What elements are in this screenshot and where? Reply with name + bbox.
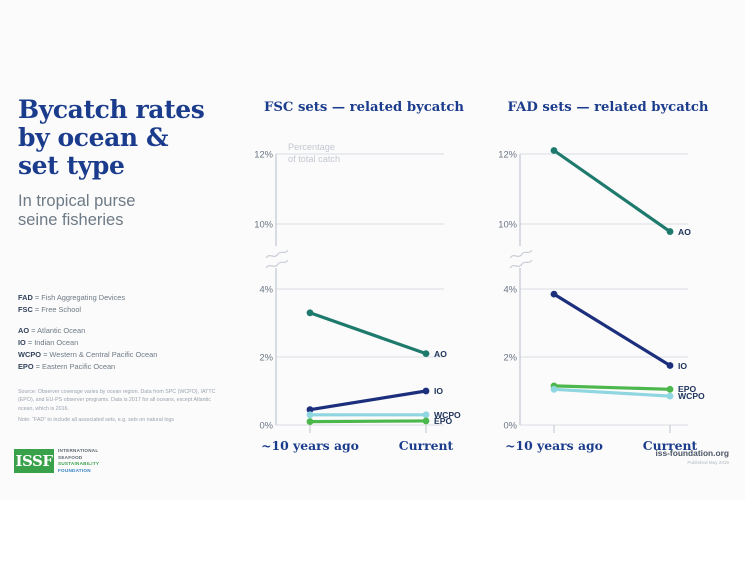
title-line-1: Bycatch rates xyxy=(18,96,240,124)
note-text: Note: “FAD” to include all associated se… xyxy=(18,416,218,424)
source-text: Source: Observer coverage varies by ocea… xyxy=(18,388,218,413)
data-point-epo[interactable] xyxy=(307,418,314,425)
data-point-io[interactable] xyxy=(551,291,558,298)
title-line-3: set type xyxy=(18,152,240,180)
plot-area-fsc: Percentageof total catch 0%2%4%10%12% AO… xyxy=(248,121,480,433)
definition-key: AO xyxy=(18,326,29,335)
chart-fad: FAD sets — related bycatch 0%2%4%10%12% … xyxy=(492,100,724,448)
logo-word-1: INTERNATIONAL xyxy=(58,448,99,455)
definition-key: FSC xyxy=(18,305,33,314)
axis-break-icon xyxy=(266,250,288,258)
data-point-wcpo[interactable] xyxy=(667,393,674,400)
series-label-ao: AO xyxy=(434,349,447,359)
subtitle-line-2: seine fisheries xyxy=(18,211,240,230)
definition-row: WCPO = Western & Central Pacific Ocean xyxy=(18,349,233,361)
title-block: Bycatch rates by ocean & set type In tro… xyxy=(18,96,240,231)
source-notes: Source: Observer coverage varies by ocea… xyxy=(18,388,218,424)
subtitle-line-1: In tropical purse xyxy=(18,192,240,211)
plot-area-fad: 0%2%4%10%12% AOIOEPOWCPO xyxy=(492,121,724,433)
definition-value: = Fish Aggregating Devices xyxy=(35,293,125,302)
series-line-io[interactable] xyxy=(554,294,670,365)
definition-value: = Eastern Pacific Ocean xyxy=(36,362,116,371)
definition-value: = Atlantic Ocean xyxy=(31,326,85,335)
definition-key: WCPO xyxy=(18,350,41,359)
title-line-2: by ocean & xyxy=(18,124,240,152)
x-axis-label: Current xyxy=(399,438,454,453)
definition-row: IO = Indian Ocean xyxy=(18,337,233,349)
data-point-wcpo[interactable] xyxy=(551,386,558,393)
data-point-ao[interactable] xyxy=(667,228,674,235)
chart-fsc: FSC sets — related bycatch Percentageof … xyxy=(248,100,480,448)
definition-group-set-types: FAD = Fish Aggregating Devices FSC = Fre… xyxy=(18,292,233,316)
legend-definitions: FAD = Fish Aggregating Devices FSC = Fre… xyxy=(18,292,233,382)
definition-value: = Western & Central Pacific Ocean xyxy=(43,350,157,359)
series-label-ao: AO xyxy=(678,227,691,237)
issf-logo-mark: ISSF xyxy=(14,449,54,473)
logo-word-3: SUSTAINABILITY xyxy=(58,461,99,468)
definition-row: FSC = Free School xyxy=(18,304,233,316)
data-point-epo[interactable] xyxy=(423,418,430,425)
published-date: Published May 2019 xyxy=(655,460,729,465)
definition-row: AO = Atlantic Ocean xyxy=(18,325,233,337)
x-axis-label: ~10 years ago xyxy=(261,438,359,453)
axis-break-icon xyxy=(266,260,288,268)
site-info: iss-foundation.org Published May 2019 xyxy=(655,448,729,465)
series-label-wcpo: WCPO xyxy=(678,391,705,401)
chart-title-fsc: FSC sets — related bycatch xyxy=(248,100,480,115)
definition-value: = Free School xyxy=(35,305,81,314)
footer: ISSF INTERNATIONAL SEAFOOD SUSTAINABILIT… xyxy=(0,500,745,576)
x-axis-labels-fsc: ~10 years agoCurrent xyxy=(248,438,480,458)
series-label-io: IO xyxy=(434,386,443,396)
definition-key: IO xyxy=(18,338,26,347)
issf-logo: ISSF INTERNATIONAL SEAFOOD SUSTAINABILIT… xyxy=(14,448,99,474)
x-axis-label: ~10 years ago xyxy=(505,438,603,453)
definition-key: FAD xyxy=(18,293,33,302)
site-url[interactable]: iss-foundation.org xyxy=(655,448,729,458)
axis-break-icon xyxy=(510,260,532,268)
issf-logo-wordmark: INTERNATIONAL SEAFOOD SUSTAINABILITY FOU… xyxy=(58,448,99,474)
series-line-ao[interactable] xyxy=(310,313,426,354)
chart-svg xyxy=(248,121,480,433)
series-label-epo: EPO xyxy=(434,416,452,426)
definition-row: FAD = Fish Aggregating Devices xyxy=(18,292,233,304)
data-point-ao[interactable] xyxy=(423,350,430,357)
series-line-ao[interactable] xyxy=(554,151,670,232)
data-point-io[interactable] xyxy=(667,362,674,369)
chart-title-fad: FAD sets — related bycatch xyxy=(492,100,724,115)
logo-word-4: FOUNDATION xyxy=(58,468,99,475)
data-point-wcpo[interactable] xyxy=(307,411,314,418)
data-point-ao[interactable] xyxy=(307,309,314,316)
page-title: Bycatch rates by ocean & set type xyxy=(18,96,240,180)
data-point-epo[interactable] xyxy=(667,386,674,393)
series-label-io: IO xyxy=(678,361,687,371)
series-line-io[interactable] xyxy=(310,391,426,410)
data-point-ao[interactable] xyxy=(551,147,558,154)
axis-break-icon xyxy=(510,250,532,258)
page-subtitle: In tropical purse seine fisheries xyxy=(18,192,240,231)
definition-key: EPO xyxy=(18,362,34,371)
series-line-epo[interactable] xyxy=(310,421,426,422)
data-point-wcpo[interactable] xyxy=(423,411,430,418)
definition-group-oceans: AO = Atlantic Ocean IO = Indian Ocean WC… xyxy=(18,325,233,373)
data-point-io[interactable] xyxy=(423,388,430,395)
definition-value: = Indian Ocean xyxy=(28,338,78,347)
definition-row: EPO = Eastern Pacific Ocean xyxy=(18,361,233,373)
infographic-poster: Bycatch rates by ocean & set type In tro… xyxy=(0,0,745,576)
